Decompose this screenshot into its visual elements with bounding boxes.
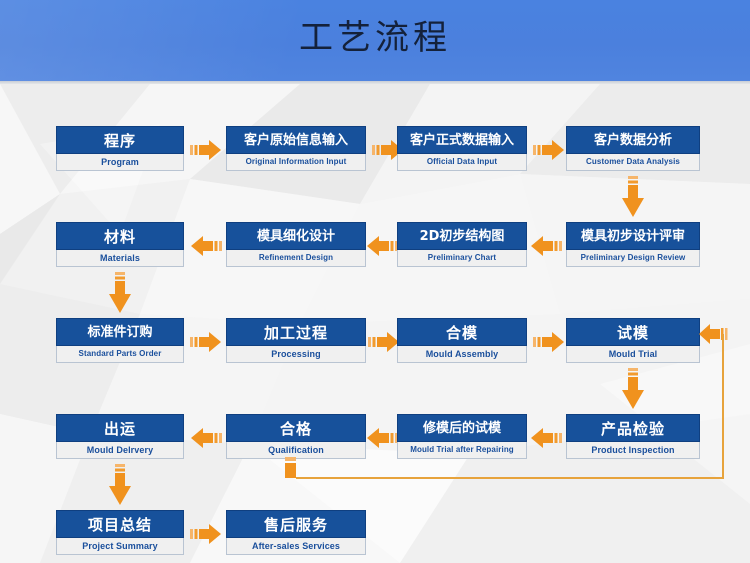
node-title-en: Original Information Input bbox=[226, 154, 366, 171]
arrow-left-icon bbox=[530, 235, 562, 257]
node-title-cn: 合模 bbox=[397, 318, 527, 346]
loop-origin-marker-icon bbox=[283, 457, 299, 483]
arrow-left-icon bbox=[366, 427, 398, 449]
arrow-right-icon bbox=[533, 331, 565, 353]
node-title-cn: 产品检验 bbox=[566, 414, 700, 442]
arrow-left-icon bbox=[366, 235, 398, 257]
node-processing[interactable]: 加工过程 Processing bbox=[226, 318, 366, 363]
arrow-left-icon bbox=[190, 235, 222, 257]
node-title-cn: 程序 bbox=[56, 126, 184, 154]
node-title-cn: 客户数据分析 bbox=[566, 126, 700, 154]
node-title-cn: 加工过程 bbox=[226, 318, 366, 346]
node-mould-assembly[interactable]: 合模 Mould Assembly bbox=[397, 318, 527, 363]
arrow-down-icon bbox=[108, 464, 132, 506]
node-title-cn: 客户正式数据输入 bbox=[397, 126, 527, 154]
node-title-en: After-sales Services bbox=[226, 538, 366, 555]
node-official-data-input[interactable]: 客户正式数据输入 Official Data Input bbox=[397, 126, 527, 171]
arrow-right-icon bbox=[368, 331, 400, 353]
node-title-en: Mould Trial bbox=[566, 346, 700, 363]
node-title-en: Preliminary Chart bbox=[397, 250, 527, 267]
node-title-en: Processing bbox=[226, 346, 366, 363]
arrow-down-icon bbox=[621, 176, 645, 218]
node-title-cn: 试模 bbox=[566, 318, 700, 346]
arrow-right-icon bbox=[190, 139, 222, 161]
node-original-information-input[interactable]: 客户原始信息输入 Original Information Input bbox=[226, 126, 366, 171]
node-title-en: Product Inspection bbox=[566, 442, 700, 459]
node-title-en: Mould Assembly bbox=[397, 346, 527, 363]
arrow-right-icon bbox=[190, 331, 222, 353]
node-title-cn: 合格 bbox=[226, 414, 366, 442]
feedback-loop-vertical bbox=[722, 334, 724, 479]
node-title-en: Program bbox=[56, 154, 184, 171]
node-title-cn: 修模后的试模 bbox=[397, 414, 527, 442]
node-title-cn: 标准件订购 bbox=[56, 318, 184, 346]
node-project-summary[interactable]: 项目总结 Project Summary bbox=[56, 510, 184, 555]
node-title-en: Mould Delrvery bbox=[56, 442, 184, 459]
node-qualification[interactable]: 合格 Qualification bbox=[226, 414, 366, 459]
page-title: 工艺流程 bbox=[0, 16, 750, 60]
node-mould-trial[interactable]: 试模 Mould Trial bbox=[566, 318, 700, 363]
node-refinement-design[interactable]: 模具细化设计 Refinement Design bbox=[226, 222, 366, 267]
node-title-cn: 模具细化设计 bbox=[226, 222, 366, 250]
node-title-cn: 出运 bbox=[56, 414, 184, 442]
slide-canvas: 工艺流程 bbox=[0, 0, 750, 563]
node-title-cn: 2D初步结构图 bbox=[397, 222, 527, 250]
node-title-en: Mould Trial after Repairing bbox=[397, 442, 527, 459]
node-title-en: Refinement Design bbox=[226, 250, 366, 267]
node-preliminary-chart[interactable]: 2D初步结构图 Preliminary Chart bbox=[397, 222, 527, 267]
arrow-left-icon bbox=[190, 427, 222, 449]
node-title-cn: 项目总结 bbox=[56, 510, 184, 538]
node-mould-delivery[interactable]: 出运 Mould Delrvery bbox=[56, 414, 184, 459]
node-standard-parts-order[interactable]: 标准件订购 Standard Parts Order bbox=[56, 318, 184, 363]
feedback-loop-horizontal bbox=[296, 477, 724, 479]
node-title-cn: 售后服务 bbox=[226, 510, 366, 538]
node-title-en: Standard Parts Order bbox=[56, 346, 184, 363]
node-after-sales-services[interactable]: 售后服务 After-sales Services bbox=[226, 510, 366, 555]
arrow-down-icon bbox=[621, 368, 645, 410]
node-title-cn: 模具初步设计评审 bbox=[566, 222, 700, 250]
node-title-en: Official Data Input bbox=[397, 154, 527, 171]
node-title-en: Materials bbox=[56, 250, 184, 267]
node-program[interactable]: 程序 Program bbox=[56, 126, 184, 171]
node-product-inspection[interactable]: 产品检验 Product Inspection bbox=[566, 414, 700, 459]
node-title-cn: 材料 bbox=[56, 222, 184, 250]
arrow-right-icon bbox=[533, 139, 565, 161]
node-materials[interactable]: 材料 Materials bbox=[56, 222, 184, 267]
arrow-down-icon bbox=[108, 272, 132, 314]
node-title-cn: 客户原始信息输入 bbox=[226, 126, 366, 154]
node-title-en: Customer Data Analysis bbox=[566, 154, 700, 171]
arrow-right-icon bbox=[190, 523, 222, 545]
arrow-left-icon bbox=[530, 427, 562, 449]
node-title-en: Project Summary bbox=[56, 538, 184, 555]
node-title-en: Preliminary Design Review bbox=[566, 250, 700, 267]
node-mould-trial-after-repairing[interactable]: 修模后的试模 Mould Trial after Repairing bbox=[397, 414, 527, 459]
node-customer-data-analysis[interactable]: 客户数据分析 Customer Data Analysis bbox=[566, 126, 700, 171]
node-preliminary-design-review[interactable]: 模具初步设计评审 Preliminary Design Review bbox=[566, 222, 700, 267]
